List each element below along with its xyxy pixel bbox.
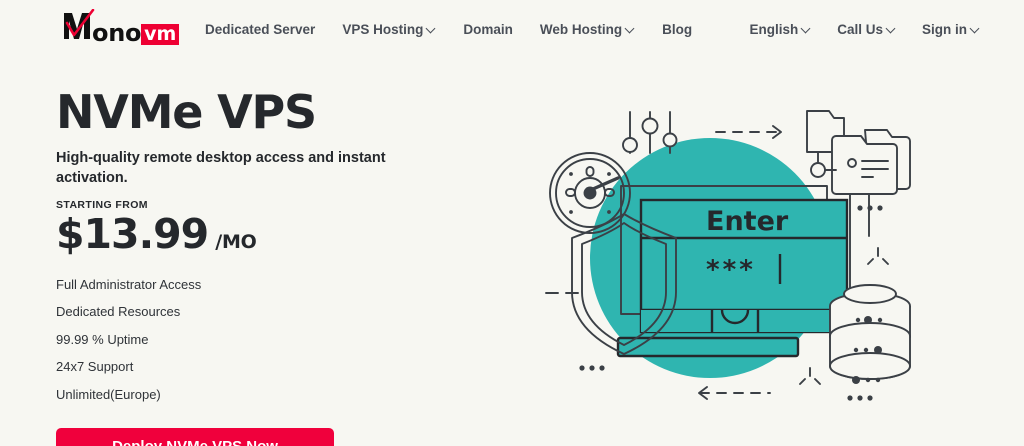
price-amount: $13.99	[56, 212, 208, 257]
chevron-down-icon	[427, 24, 436, 33]
password-mask: ***	[706, 255, 756, 285]
hero-illustration: Enter ***	[520, 88, 960, 428]
list-item: 99.99 % Uptime	[56, 333, 486, 346]
site-header: ono vm Dedicated Server VPS Hosting Doma…	[0, 0, 1024, 58]
sign-in-label: Sign in	[922, 22, 967, 37]
nav-item-web-hosting[interactable]: Web Hosting	[540, 22, 635, 37]
utility-navigation: English Call Us Sign in	[749, 0, 980, 58]
call-us-label: Call Us	[837, 22, 883, 37]
nav-label: Web Hosting	[540, 22, 622, 37]
brand-name-badge: vm	[141, 24, 179, 45]
price-row: $13.99 /MO	[56, 212, 486, 257]
dashed-arrow-left-icon	[699, 387, 770, 399]
deploy-nvme-vps-button[interactable]: Deploy NVMe VPS Now	[56, 428, 334, 446]
language-selector[interactable]: English	[749, 22, 811, 37]
monovm-checkmark-logo-icon	[62, 9, 96, 41]
database-stack-icon	[830, 285, 910, 384]
list-item: Dedicated Resources	[56, 305, 486, 318]
list-item: 24x7 Support	[56, 360, 486, 373]
slider-controls-icon	[623, 112, 677, 153]
nav-item-domain[interactable]: Domain	[463, 22, 513, 37]
nav-label: Dedicated Server	[205, 22, 315, 37]
chevron-down-icon	[887, 24, 896, 33]
nav-label: Domain	[463, 22, 513, 37]
list-item: Full Administrator Access	[56, 278, 486, 291]
nav-label: VPS Hosting	[342, 22, 423, 37]
price-unit: /MO	[215, 231, 256, 253]
chevron-down-icon	[626, 24, 635, 33]
nav-item-vps-hosting[interactable]: VPS Hosting	[342, 22, 436, 37]
dashed-arrow-right-icon	[716, 126, 781, 138]
nav-label: Blog	[662, 22, 692, 37]
language-label: English	[749, 22, 798, 37]
primary-navigation: Dedicated Server VPS Hosting Domain Web …	[205, 0, 692, 58]
hero-subtitle: High-quality remote desktop access and i…	[56, 149, 406, 188]
nav-item-dedicated-server[interactable]: Dedicated Server	[205, 22, 315, 37]
chevron-down-icon	[802, 24, 811, 33]
brand-logo[interactable]: ono vm	[62, 9, 179, 43]
feature-list: Full Administrator Access Dedicated Reso…	[56, 278, 486, 401]
brand-name-main: ono	[92, 21, 141, 45]
sign-in-menu[interactable]: Sign in	[922, 22, 980, 37]
page-title: NVMe VPS	[56, 88, 486, 136]
landing-page: ono vm Dedicated Server VPS Hosting Doma…	[0, 0, 1024, 446]
folder-stack-icon	[832, 130, 910, 194]
nav-item-blog[interactable]: Blog	[662, 22, 692, 37]
call-us-menu[interactable]: Call Us	[837, 22, 896, 37]
hero-content: NVMe VPS High-quality remote desktop acc…	[56, 88, 486, 446]
screen-heading: Enter	[706, 206, 789, 237]
list-item: Unlimited(Europe)	[56, 388, 486, 401]
chevron-down-icon	[971, 24, 980, 33]
